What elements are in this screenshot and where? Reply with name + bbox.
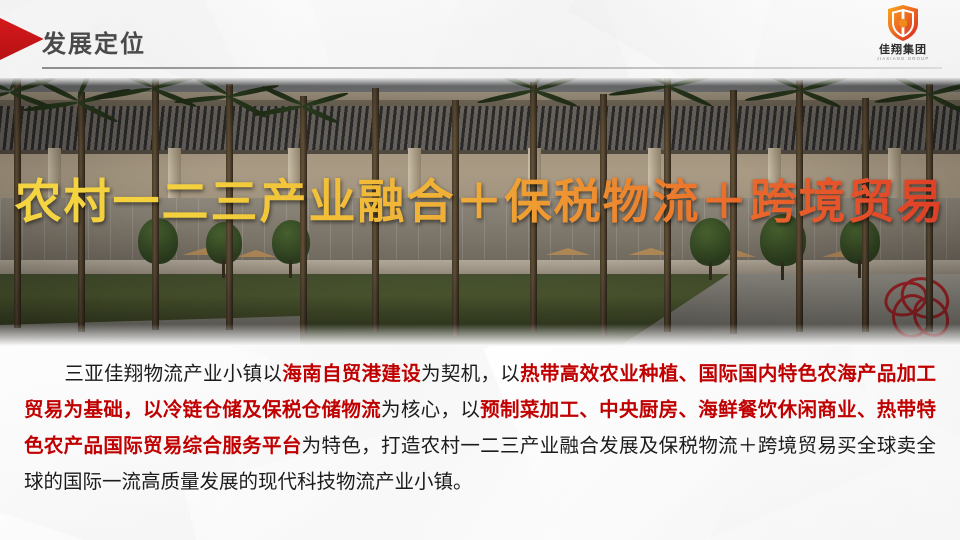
body-seg: 为契机，以 (421, 362, 520, 385)
logo-name-en: JIAXIANG GROUP (860, 56, 946, 62)
photo-top-fade (0, 78, 960, 86)
logo-name-cn: 佳翔集团 (860, 44, 946, 56)
body-seg: 为核心，以 (381, 398, 480, 421)
title-divider (42, 67, 942, 69)
shield-logo-icon (886, 4, 920, 42)
presentation-slide: 农村一二三产业融合＋保税物流＋跨境贸易 发展定位 (0, 0, 960, 540)
photo-bottom-fade (0, 324, 960, 346)
company-logo: 佳翔集团 JIAXIANG GROUP (860, 4, 946, 70)
page-title: 发展定位 (42, 24, 146, 59)
slide-header: 发展定位 佳翔集团 (0, 0, 960, 78)
body-seg-emphasis: 海南自贸港建设 (282, 362, 421, 385)
headline-text: 农村一二三产业融合＋保税物流＋跨境贸易 (0, 163, 960, 232)
body-seg: 三亚佳翔物流产业小镇以 (64, 362, 282, 385)
body-paragraph: 三亚佳翔物流产业小镇以海南自贸港建设为契机，以热带高效农业种植、国际国内特色农海… (24, 356, 936, 500)
